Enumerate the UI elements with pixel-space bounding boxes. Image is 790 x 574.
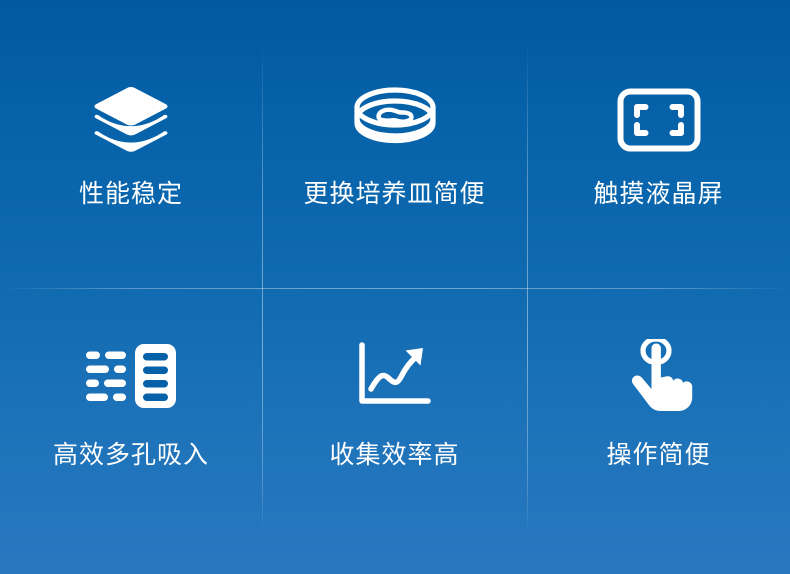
fullscreen-frame-icon — [616, 84, 702, 156]
feature-label: 触摸液晶屏 — [593, 182, 723, 207]
feature-highlight-panel: 性能稳定 更换培养皿简便 — [0, 0, 790, 574]
layers-icon — [88, 84, 174, 156]
feature-cell-easy-dish-change[interactable]: 更换培养皿简便 — [262, 0, 527, 287]
tap-hand-icon — [620, 339, 698, 411]
feature-label: 操作简便 — [606, 443, 710, 468]
feature-cell-easy-operation[interactable]: 操作简便 — [527, 287, 790, 574]
feature-grid: 性能稳定 更换培养皿简便 — [0, 0, 790, 574]
petri-dish-icon — [351, 84, 439, 156]
feature-label: 更换培养皿简便 — [303, 182, 485, 207]
feature-label: 性能稳定 — [79, 182, 183, 207]
feature-cell-multi-hole-intake[interactable]: 高效多孔吸入 — [0, 287, 262, 574]
feature-label: 收集效率高 — [329, 443, 459, 468]
growth-chart-icon — [352, 339, 438, 411]
feature-cell-touch-lcd[interactable]: 触摸液晶屏 — [527, 0, 790, 287]
perforated-plate-icon — [84, 339, 178, 411]
feature-label: 高效多孔吸入 — [53, 443, 209, 468]
feature-cell-performance-stable[interactable]: 性能稳定 — [0, 0, 262, 287]
feature-cell-high-collection-efficiency[interactable]: 收集效率高 — [262, 287, 527, 574]
